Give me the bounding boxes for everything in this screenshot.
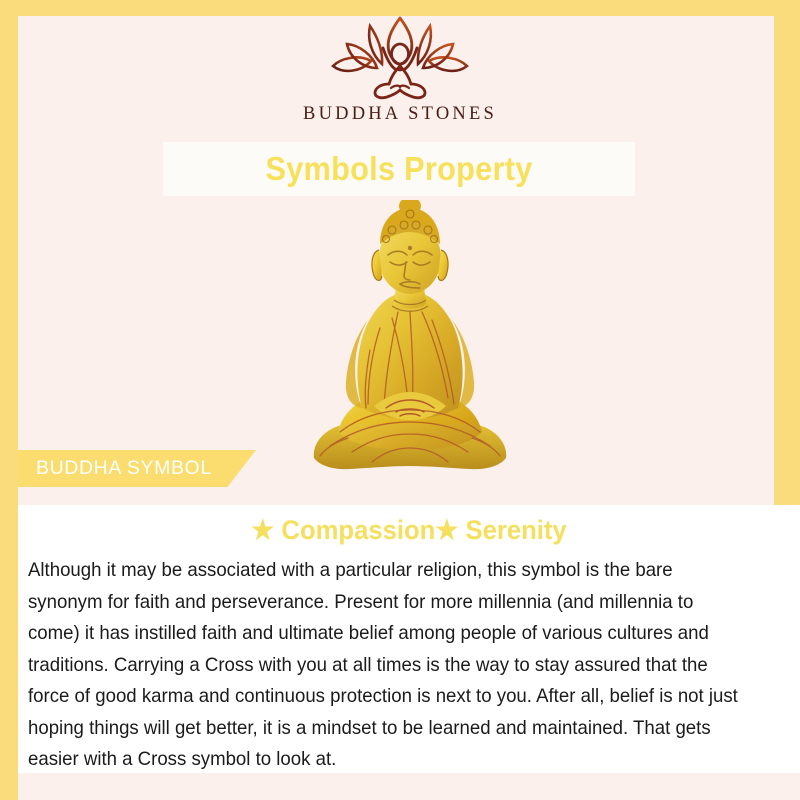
golden-buddha-statue bbox=[300, 200, 520, 490]
brand-header: BUDDHA STONES bbox=[0, 14, 800, 125]
bottom-strip bbox=[18, 773, 800, 800]
brand-name: BUDDHA STONES bbox=[0, 104, 800, 125]
lotus-meditation-icon bbox=[325, 14, 475, 100]
content-panel: ★ Compassion★ Serenity Although it may b… bbox=[18, 505, 800, 773]
title-band: Symbols Property bbox=[163, 142, 635, 196]
section-ribbon-label: BUDDHA SYMBOL bbox=[36, 450, 212, 487]
page-title: Symbols Property bbox=[180, 142, 619, 196]
body-paragraph: Although it may be associated with a par… bbox=[28, 555, 750, 776]
tagline: ★ Compassion★ Serenity bbox=[38, 515, 781, 546]
symbols-property-poster: BUDDHA STONES Symbols Property bbox=[0, 0, 800, 800]
